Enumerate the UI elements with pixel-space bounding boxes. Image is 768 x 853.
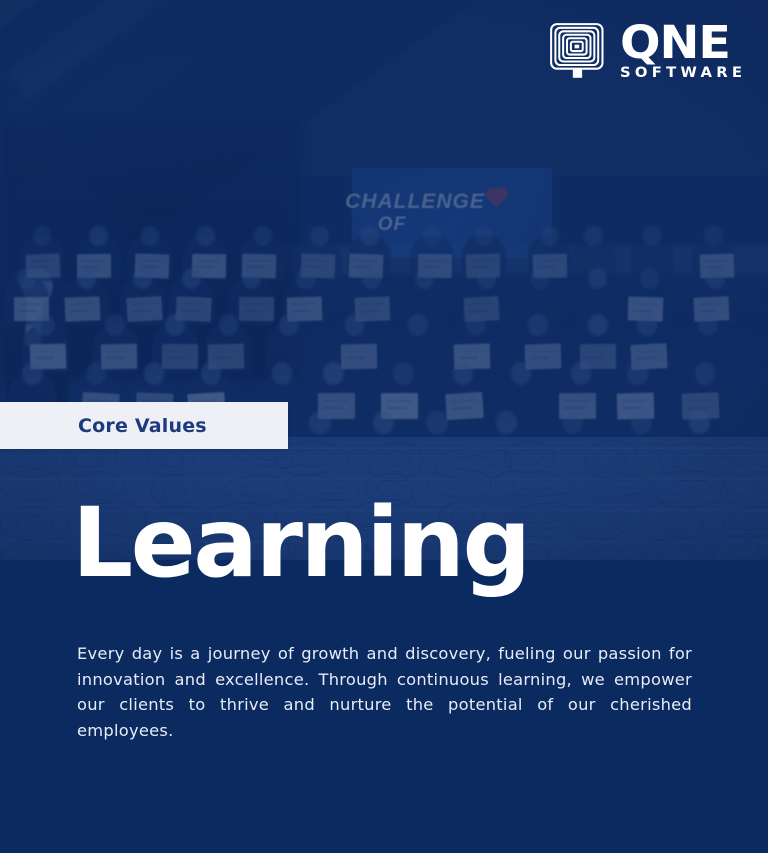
nested-squares-monitor-icon	[549, 22, 611, 84]
logo-wordmark: QNE SOFTWARE	[620, 22, 744, 81]
body-paragraph: Every day is a journey of growth and dis…	[77, 641, 692, 743]
core-values-badge: Core Values	[0, 402, 288, 449]
logo-brand-name: QNE	[620, 22, 751, 63]
qne-software-logo[interactable]: QNE SOFTWARE	[549, 22, 744, 84]
core-values-poster: CHALLENGE OF	[0, 0, 768, 853]
vignette-overlay	[0, 0, 768, 561]
hero-photo: CHALLENGE OF	[0, 0, 768, 561]
logo-tagline: SOFTWARE	[620, 66, 746, 81]
page-title: Learning	[72, 495, 529, 591]
core-values-badge-label: Core Values	[78, 415, 207, 437]
